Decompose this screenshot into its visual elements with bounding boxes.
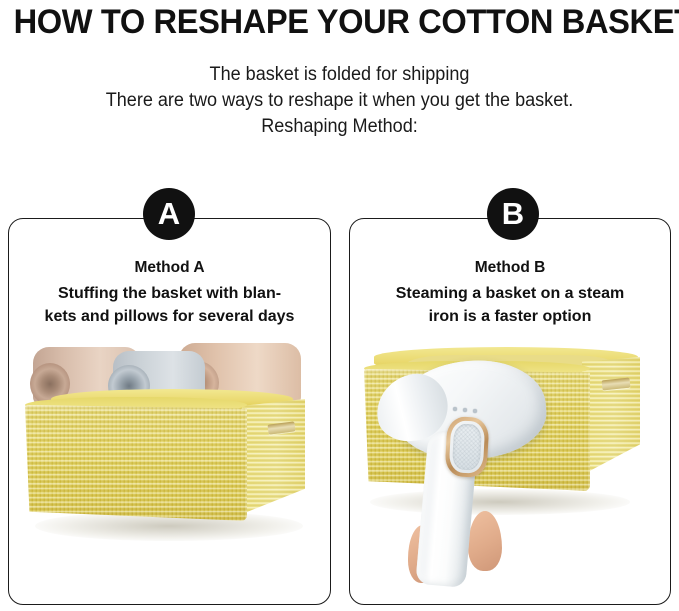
method-b-desc-line-2: iron is a faster option <box>350 305 670 328</box>
led-indicator-2 <box>463 408 467 412</box>
finger-back-1 <box>468 511 502 571</box>
led-indicator-3 <box>473 409 477 413</box>
page-title: HOW TO RESHAPE YOUR COTTON BASKET <box>14 0 666 44</box>
method-a-description: Stuffing the basket with blan- kets and … <box>9 282 330 328</box>
page-subtitle: The basket is folded for shipping There … <box>17 62 662 140</box>
subtitle-line-1: The basket is folded for shipping <box>17 62 662 88</box>
led-indicator-1 <box>453 407 457 411</box>
method-a-desc-line-2: kets and pillows for several days <box>9 305 330 328</box>
method-a-desc-line-1: Stuffing the basket with blan- <box>9 282 330 305</box>
subtitle-line-2: There are two ways to reshape it when yo… <box>17 88 662 114</box>
method-a-heading: Method A Stuffing the basket with blan- … <box>9 257 330 328</box>
method-b-title: Method B <box>350 257 670 279</box>
basket-b-side-panel <box>582 357 640 475</box>
subtitle-line-3: Reshaping Method: <box>17 114 662 140</box>
method-a-illustration <box>9 339 330 605</box>
basket-b-shadow <box>370 489 630 515</box>
method-a-title: Method A <box>9 257 330 279</box>
basket-a-side-panel <box>242 399 305 514</box>
method-card-a[interactable]: Method A Stuffing the basket with blan- … <box>8 218 331 605</box>
method-b-illustration <box>350 339 670 605</box>
method-b-desc-line-1: Steaming a basket on a steam <box>350 282 670 305</box>
basket-a-front-panel <box>25 405 247 521</box>
power-button[interactable] <box>452 423 482 470</box>
method-b-heading: Method B Steaming a basket on a steam ir… <box>350 257 670 328</box>
method-b-description: Steaming a basket on a steam iron is a f… <box>350 282 670 328</box>
method-card-b[interactable]: Method B Steaming a basket on a steam ir… <box>349 218 671 605</box>
